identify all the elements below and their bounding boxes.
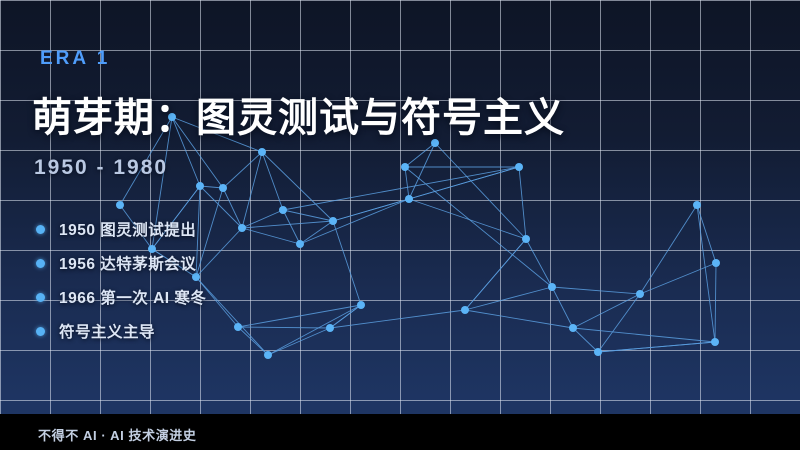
list-item: 符号主义主导 [36, 314, 336, 348]
bullet-dot-icon [36, 259, 45, 268]
list-item-label: 1956 达特茅斯会议 [59, 252, 196, 274]
slide-content: ERA 1 萌芽期：图灵测试与符号主义 1950 - 1980 1950 图灵测… [0, 0, 800, 414]
list-item: 1950 图灵测试提出 [36, 212, 336, 246]
bullet-dot-icon [36, 293, 45, 302]
bullet-dot-icon [36, 327, 45, 336]
list-item: 1956 达特茅斯会议 [36, 246, 336, 280]
list-item-label: 符号主义主导 [59, 320, 155, 342]
list-item: 1966 第一次 AI 寒冬 [36, 280, 336, 314]
footer-bar: 不得不 AI · AI 技术演进史 [0, 414, 800, 450]
bullet-dot-icon [36, 225, 45, 234]
timeline-bullet-list: 1950 图灵测试提出 1956 达特茅斯会议 1966 第一次 AI 寒冬 符… [36, 212, 336, 348]
slide-canvas: ERA 1 萌芽期：图灵测试与符号主义 1950 - 1980 1950 图灵测… [0, 0, 800, 450]
date-range-label: 1950 - 1980 [34, 156, 168, 180]
era-label: ERA 1 [40, 48, 110, 70]
footer-branding-label: 不得不 AI · AI 技术演进史 [38, 425, 197, 444]
list-item-label: 1966 第一次 AI 寒冬 [59, 286, 206, 308]
page-title: 萌芽期：图灵测试与符号主义 [32, 98, 565, 138]
list-item-label: 1950 图灵测试提出 [59, 218, 196, 240]
